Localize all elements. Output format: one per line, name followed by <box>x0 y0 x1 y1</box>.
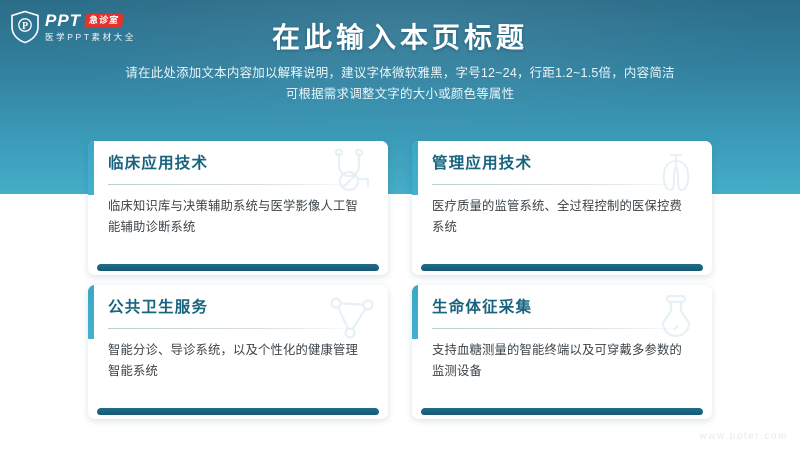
page-subtitle-line-1: 请在此处添加文本内容加以解释说明，建议字体微软雅黑，字号12~24，行距1.2~… <box>0 63 800 84</box>
card-foot-bar <box>421 264 703 271</box>
page-subtitle: 请在此处添加文本内容加以解释说明，建议字体微软雅黑，字号12~24，行距1.2~… <box>0 63 800 105</box>
card-content: 管理应用技术 医疗质量的监管系统、全过程控制的医保控费系统 <box>412 141 712 275</box>
card-divider <box>108 184 364 185</box>
slide: P PPT 急诊室 医学PPT素材大全 在此输入本页标题 请在此处添加文本内容加… <box>0 0 800 450</box>
card-title: 公共卫生服务 <box>108 297 372 319</box>
card-divider <box>432 328 688 329</box>
card-divider <box>108 328 364 329</box>
card-body: 支持血糖测量的智能终端以及可穿戴多参数的监测设备 <box>432 340 694 382</box>
card-foot-bar <box>421 408 703 415</box>
card-body: 医疗质量的监管系统、全过程控制的医保控费系统 <box>432 196 694 238</box>
card-content: 生命体征采集 支持血糖测量的智能终端以及可穿戴多参数的监测设备 <box>412 285 712 419</box>
card-body: 智能分诊、导诊系统，以及个性化的健康管理智能系统 <box>108 340 370 382</box>
card-management-application[interactable]: 管理应用技术 医疗质量的监管系统、全过程控制的医保控费系统 <box>412 141 712 275</box>
card-divider <box>432 184 688 185</box>
card-content: 公共卫生服务 智能分诊、导诊系统，以及个性化的健康管理智能系统 <box>88 285 388 419</box>
page-title: 在此输入本页标题 <box>0 16 800 56</box>
card-content: 临床应用技术 临床知识库与决策辅助系统与医学影像人工智能辅助诊断系统 <box>88 141 388 275</box>
card-grid: 临床应用技术 临床知识库与决策辅助系统与医学影像人工智能辅助诊断系统 管理应用技… <box>88 141 712 419</box>
card-public-health-service[interactable]: 公共卫生服务 智能分诊、导诊系统，以及个性化的健康管理智能系统 <box>88 285 388 419</box>
card-clinical-application[interactable]: 临床应用技术 临床知识库与决策辅助系统与医学影像人工智能辅助诊断系统 <box>88 141 388 275</box>
card-title: 生命体征采集 <box>432 297 696 319</box>
card-title: 管理应用技术 <box>432 153 696 175</box>
site-watermark: www.ppter.com <box>699 431 788 442</box>
page-subtitle-line-2: 可根据需求调整文字的大小或颜色等属性 <box>0 84 800 105</box>
card-body: 临床知识库与决策辅助系统与医学影像人工智能辅助诊断系统 <box>108 196 370 238</box>
card-vital-signs-collection[interactable]: 生命体征采集 支持血糖测量的智能终端以及可穿戴多参数的监测设备 <box>412 285 712 419</box>
card-foot-bar <box>97 264 379 271</box>
card-title: 临床应用技术 <box>108 153 372 175</box>
card-foot-bar <box>97 408 379 415</box>
